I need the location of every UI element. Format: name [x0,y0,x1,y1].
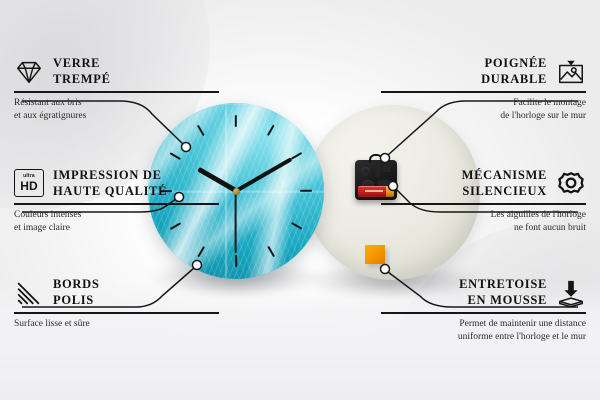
feature-desc-line1: Surface lisse et sûre [14,319,90,329]
feature-header: ENTRETOISE EN MOUSSE [381,277,586,308]
hd-badge: ultra HD [14,169,44,197]
mechanism-slot-a [375,166,380,177]
feature-description: Les aiguilles de l'horloge ne font aucun… [381,209,586,236]
mechanism-dial-left [361,167,370,176]
feature-description: Facilite le montage de l'horloge sur le … [381,97,586,124]
feature-title-line1: VERRE [53,56,100,70]
mechanism-hanger-tab [369,154,383,163]
feature-title: MÉCANISME SILENCIEUX [462,168,547,199]
feature-poignee-durable: POIGNÉE DURABLE Facilite le montage de l… [381,56,586,124]
polished-edge-icon [14,278,44,308]
feature-header: MÉCANISME SILENCIEUX [381,168,586,199]
feature-title-line1: ENTRETOISE [459,277,547,291]
hd-badge-main-label: HD [20,180,38,192]
feature-verre-trempe: VERRE TREMPÉ Résistant aux bris et aux é… [14,56,219,124]
feature-header: BORDS POLIS [14,277,219,308]
feature-mecanisme-silencieux: MÉCANISME SILENCIEUX Les aiguilles de l'… [381,168,586,236]
second-hand [235,191,237,253]
feature-title-line2: HAUTE QUALITÉ [53,184,167,198]
feature-header: ultra HD IMPRESSION DE HAUTE QUALITÉ [14,168,219,199]
feature-divider [14,203,219,205]
feature-divider [14,91,219,93]
feature-desc-line2: et aux égratignures [14,111,86,121]
ultra-hd-icon: ultra HD [14,169,44,199]
feature-description: Permet de maintenir une distance uniform… [381,318,586,345]
feature-title-line2: DURABLE [481,72,547,86]
feature-desc-line2: ne font aucun bruit [514,223,586,233]
hour-tick [235,255,237,267]
feature-title-line2: EN MOUSSE [468,293,547,307]
feature-title-line1: POIGNÉE [485,56,547,70]
feature-divider [14,312,219,314]
feature-desc-line1: Les aiguilles de l'horloge [491,210,586,220]
diamond-icon [14,57,44,87]
feature-title-line1: MÉCANISME [462,168,547,182]
hand-center-cap [233,188,240,195]
feature-divider [381,91,586,93]
foam-spacer-pad [365,245,385,264]
gear-icon [556,169,586,199]
feature-impression-haute-qualite: ultra HD IMPRESSION DE HAUTE QUALITÉ Cou… [14,168,219,236]
feature-title: POIGNÉE DURABLE [481,56,547,87]
feature-title-line2: POLIS [53,293,94,307]
feature-bords-polis: BORDS POLIS Surface lisse et sûre [14,277,219,331]
feature-desc-line2: uniforme entre l'horloge et le mur [458,332,586,342]
feature-title: VERRE TREMPÉ [53,56,111,87]
feature-header: VERRE TREMPÉ [14,56,219,87]
feature-title: IMPRESSION DE HAUTE QUALITÉ [53,168,167,199]
feature-desc-line1: Couleurs intenses [14,210,81,220]
feature-desc-line1: Permet de maintenir une distance [459,319,586,329]
feature-header: POIGNÉE DURABLE [381,56,586,87]
feature-entretoise-en-mousse: ENTRETOISE EN MOUSSE Permet de maintenir… [381,277,586,345]
infographic-canvas: VERRE TREMPÉ Résistant aux bris et aux é… [0,0,600,400]
feature-desc-line1: Facilite le montage [513,98,586,108]
feature-desc-line2: de l'horloge sur le mur [500,111,586,121]
hd-badge-top-label: ultra [23,174,35,179]
feature-description: Surface lisse et sûre [14,318,219,331]
feature-divider [381,203,586,205]
picture-hanger-icon [556,57,586,87]
feature-title: BORDS POLIS [53,277,100,308]
feature-title-line1: IMPRESSION DE [53,168,162,182]
feature-title-line2: TREMPÉ [53,72,111,86]
feature-description: Résistant aux bris et aux égratignures [14,97,219,124]
feature-desc-line2: et image claire [14,223,70,233]
feature-title-line1: BORDS [53,277,100,291]
feature-title: ENTRETOISE EN MOUSSE [459,277,547,308]
feature-description: Couleurs intenses et image claire [14,209,219,236]
feature-divider [381,312,586,314]
foam-spacer-icon [556,278,586,308]
feature-desc-line1: Résistant aux bris [14,98,82,108]
feature-title-line2: SILENCIEUX [462,184,547,198]
